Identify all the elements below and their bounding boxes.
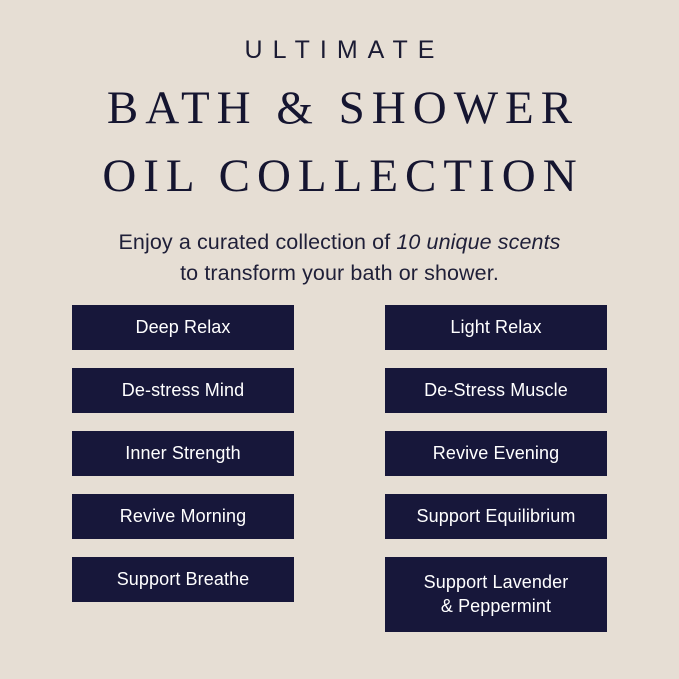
subtitle-line-1-text: Enjoy a curated collection of (118, 230, 396, 254)
scent-chip[interactable]: Deep Relax (72, 305, 294, 350)
scent-chip[interactable]: De-Stress Muscle (385, 368, 607, 413)
scent-chip-label: Revive Morning (120, 506, 246, 527)
product-info-poster: ULTIMATE BATH & SHOWER OIL COLLECTION En… (0, 0, 679, 679)
scent-chip[interactable]: Inner Strength (72, 431, 294, 476)
scent-chip[interactable]: Revive Evening (385, 431, 607, 476)
scent-chip-label-line-1: Support Lavender (424, 571, 569, 594)
scent-chip-label-line-2: & Peppermint (424, 595, 569, 618)
subtitle-line-2: to transform your bath or shower. (0, 258, 679, 289)
poster-eyebrow: ULTIMATE (0, 38, 679, 63)
scent-chip[interactable]: Light Relax (385, 305, 607, 350)
scent-grid: Deep Relax De-stress Mind Inner Strength… (0, 305, 679, 635)
subtitle-emphasis: 10 unique scents (396, 230, 560, 254)
scent-chip-label: Inner Strength (125, 443, 240, 464)
scent-chip-label: De-Stress Muscle (424, 380, 568, 401)
scent-chip[interactable]: De-stress Mind (72, 368, 294, 413)
scent-chip[interactable]: Revive Morning (72, 494, 294, 539)
scent-chip-label: De-stress Mind (122, 380, 244, 401)
poster-title-line-2: OIL COLLECTION (0, 153, 679, 200)
scent-chip[interactable]: Support Lavender & Peppermint (385, 557, 607, 632)
scent-chip[interactable]: Support Equilibrium (385, 494, 607, 539)
scent-chip-label: Support Equilibrium (417, 506, 576, 527)
scent-chip-label: Revive Evening (433, 443, 559, 464)
scent-chip-label: Light Relax (450, 317, 541, 338)
scent-column-right: Light Relax De-Stress Muscle Revive Even… (385, 305, 607, 650)
scent-chip-label: Support Lavender & Peppermint (424, 571, 569, 618)
poster-header: ULTIMATE BATH & SHOWER OIL COLLECTION En… (0, 0, 679, 288)
poster-subtitle: Enjoy a curated collection of 10 unique … (0, 200, 679, 288)
scent-chip-label: Deep Relax (135, 317, 230, 338)
scent-chip-label: Support Breathe (117, 569, 250, 590)
scent-chip[interactable]: Support Breathe (72, 557, 294, 602)
poster-title-line-1: BATH & SHOWER (0, 85, 679, 132)
subtitle-line-1: Enjoy a curated collection of 10 unique … (0, 227, 679, 258)
scent-column-left: Deep Relax De-stress Mind Inner Strength… (72, 305, 294, 620)
